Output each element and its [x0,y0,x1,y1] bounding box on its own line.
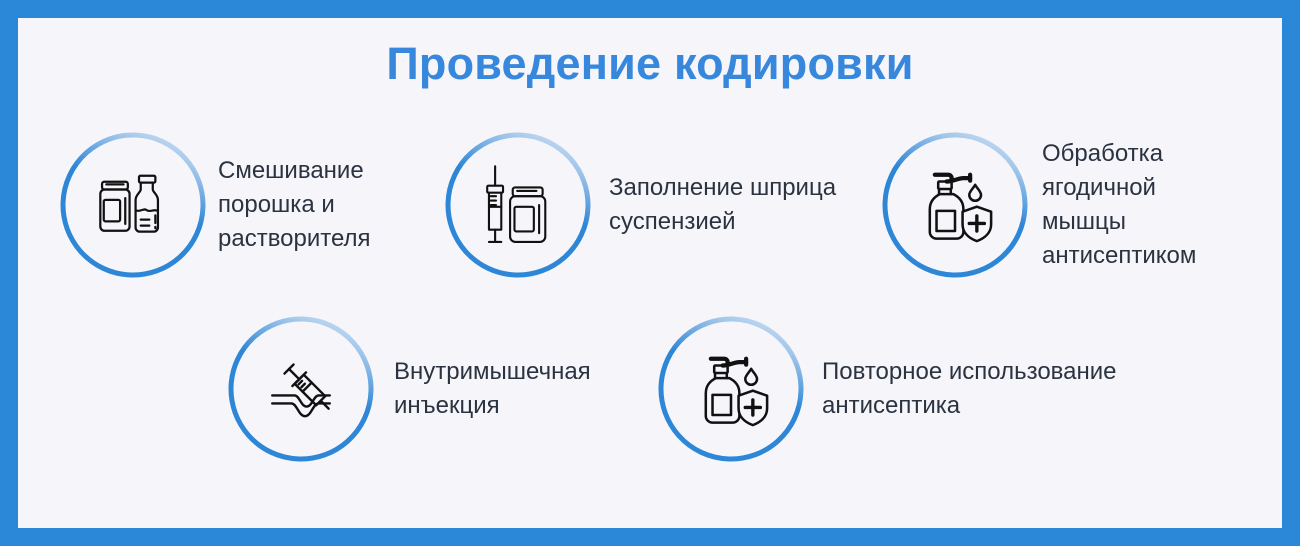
step-item-4: Внутримышечная инъекция [226,314,591,464]
step-1-circle [58,130,208,280]
step-item-1: Смешивание порошка и растворителя [58,130,371,280]
infographic-poster: Проведение кодировки [0,0,1300,546]
step-3-circle [880,130,1030,280]
step-3-label: Обработка ягодичной мышцы антисептиком [1042,137,1282,273]
step-item-2: Заполнение шприца суспензией [443,130,836,280]
step-4-label: Внутримышечная инъекция [394,355,591,423]
step-item-5: Повторное использование антисептика [656,314,1117,464]
two-vials-icon [58,130,208,280]
poster-canvas: Проведение кодировки [18,18,1282,528]
antiseptic-dispenser-shield-icon [656,314,806,464]
step-5-label: Повторное использование антисептика [822,355,1117,423]
antiseptic-dispenser-shield-icon [880,130,1030,280]
step-2-label: Заполнение шприца суспензией [609,171,836,239]
page-title: Проведение кодировки [18,38,1282,90]
intramuscular-injection-icon [226,314,376,464]
step-2-circle [443,130,593,280]
step-item-3: Обработка ягодичной мышцы антисептиком [880,130,1282,280]
step-4-circle [226,314,376,464]
step-1-label: Смешивание порошка и растворителя [218,154,371,256]
step-5-circle [656,314,806,464]
syringe-and-vial-icon [443,130,593,280]
